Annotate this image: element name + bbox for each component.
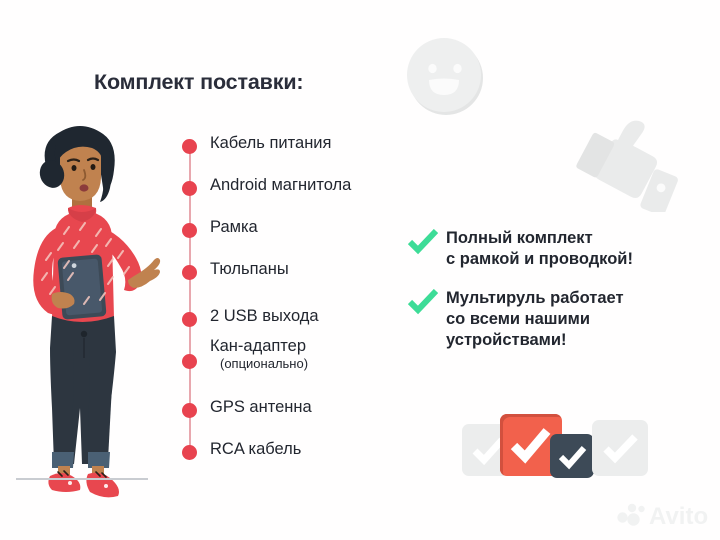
checkbox-cluster — [462, 412, 642, 492]
bullet-dot-icon — [182, 312, 197, 327]
thumbs-up-icon — [572, 108, 688, 212]
list-item: Тюльпаны — [176, 258, 426, 282]
list-item-label: GPS антенна — [210, 396, 312, 419]
list-item: RCA кабель — [176, 438, 426, 462]
list-item: Кан-адаптер (опционально) — [176, 347, 426, 371]
benefit-label: Полный комплект с рамкой и проводкой! — [446, 228, 708, 270]
kit-list: Кабель питания Android магнитола Рамка Т… — [176, 132, 426, 462]
list-item: Рамка — [176, 216, 426, 240]
green-check-icon — [408, 289, 438, 315]
bullet-dot-icon — [182, 181, 197, 196]
bullet-dot-icon — [182, 265, 197, 280]
list-item-label: Тюльпаны — [210, 258, 289, 281]
list-item: 2 USB выхода — [176, 305, 426, 329]
ground-line — [16, 478, 148, 480]
benefit-item: Полный комплект с рамкой и проводкой! — [408, 228, 708, 270]
bullet-dot-icon — [182, 354, 197, 369]
list-item-label: Рамка — [210, 216, 258, 239]
promo-card: Комплект поставки: Кабель питания Androi… — [0, 0, 720, 540]
bullet-dot-icon — [182, 445, 197, 460]
list-item: GPS антенна — [176, 396, 426, 420]
smiley-face-icon — [403, 33, 487, 117]
benefits-list: Полный комплект с рамкой и проводкой! Му… — [408, 228, 708, 365]
list-item: Android магнитола — [176, 174, 426, 198]
list-item-label: Кабель питания — [210, 132, 331, 155]
list-item-label: Android магнитола — [210, 174, 351, 197]
green-check-icon — [408, 229, 438, 255]
avito-wordmark: Avito — [649, 503, 708, 528]
list-item-label: 2 USB выхода — [210, 305, 319, 328]
checkbox-checked-icon — [550, 434, 594, 478]
page-title: Комплект поставки: — [94, 70, 303, 95]
avito-watermark: Avito — [616, 500, 712, 528]
bullet-dot-icon — [182, 139, 197, 154]
benefit-item: Мультируль работает со всеми нашими устр… — [408, 288, 708, 351]
woman-illustration — [8, 108, 178, 513]
checkbox-checked-icon — [592, 420, 648, 476]
list-item-sublabel: (опционально) — [220, 355, 308, 373]
benefit-label: Мультируль работает со всеми нашими устр… — [446, 288, 708, 351]
bullet-dot-icon — [182, 403, 197, 418]
list-item-label: RCA кабель — [210, 438, 301, 461]
list-item: Кабель питания — [176, 132, 426, 156]
bullet-dot-icon — [182, 223, 197, 238]
